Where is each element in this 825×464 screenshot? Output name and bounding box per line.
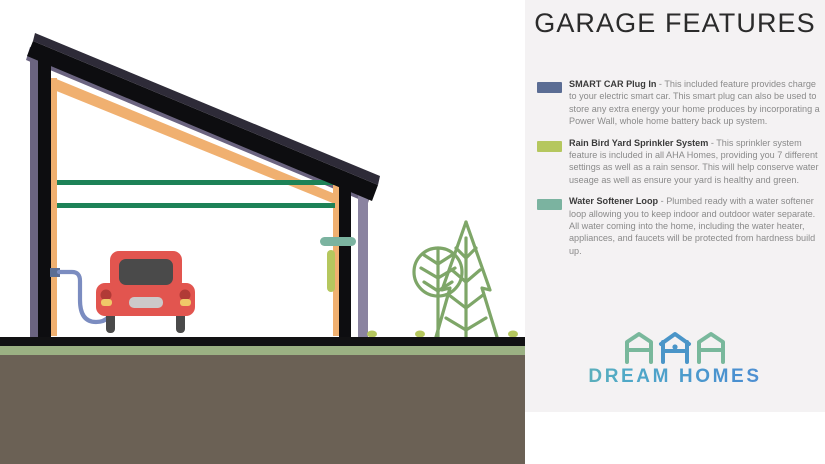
- garage-cutaway-illustration: [0, 0, 525, 464]
- feature-text: Rain Bird Yard Sprinkler System - This s…: [569, 137, 820, 187]
- feature-heading: Rain Bird Yard Sprinkler System: [569, 138, 708, 148]
- swatch-rain-bird-yard-sprinkler-system: [537, 141, 562, 152]
- swatch-water-softener-loop: [537, 199, 562, 210]
- car-windshield: [119, 259, 173, 285]
- car-light-left: [101, 290, 112, 301]
- ground-layers: [0, 337, 525, 464]
- feature-heading: Water Softener Loop: [569, 196, 658, 206]
- brand-logo: DREAM HOMES: [525, 330, 825, 388]
- car-indicator-left: [101, 299, 112, 306]
- slide-root: GARAGE FEATURES SMART CAR Plug In - This…: [0, 0, 825, 464]
- feature-separator: -: [658, 196, 666, 206]
- left-post: [38, 50, 51, 338]
- garage-illustration-panel: [0, 0, 525, 464]
- ground-slab: [0, 337, 525, 346]
- right-post: [339, 180, 351, 338]
- car-indicator-right: [180, 299, 191, 306]
- feature-heading: SMART CAR Plug In: [569, 79, 656, 89]
- sprinkler-pipe: [327, 250, 335, 292]
- grass-strip: [0, 346, 525, 355]
- swatch-smart-car-plug-in: [537, 82, 562, 93]
- feature-item-rain-bird-yard-sprinkler-system: Rain Bird Yard Sprinkler System - This s…: [535, 137, 820, 187]
- water-softener-pipe: [320, 237, 356, 246]
- soil-layer: [0, 355, 525, 464]
- brand-wordmark: DREAM HOMES: [525, 366, 825, 388]
- feature-text: SMART CAR Plug In - This included featur…: [569, 78, 820, 128]
- feature-item-smart-car-plug-in: SMART CAR Plug In - This included featur…: [535, 78, 820, 128]
- aha-monogram-icon: [621, 330, 729, 364]
- page-title: GARAGE FEATURES: [525, 8, 825, 39]
- feature-text: Water Softener Loop - Plumbed ready with…: [569, 195, 820, 257]
- features-panel: GARAGE FEATURES SMART CAR Plug In - This…: [525, 0, 825, 464]
- car-light-right: [180, 290, 191, 301]
- car-bumper: [129, 297, 163, 308]
- feature-list: SMART CAR Plug In - This included featur…: [535, 78, 820, 266]
- feature-item-water-softener-loop: Water Softener Loop - Plumbed ready with…: [535, 195, 820, 257]
